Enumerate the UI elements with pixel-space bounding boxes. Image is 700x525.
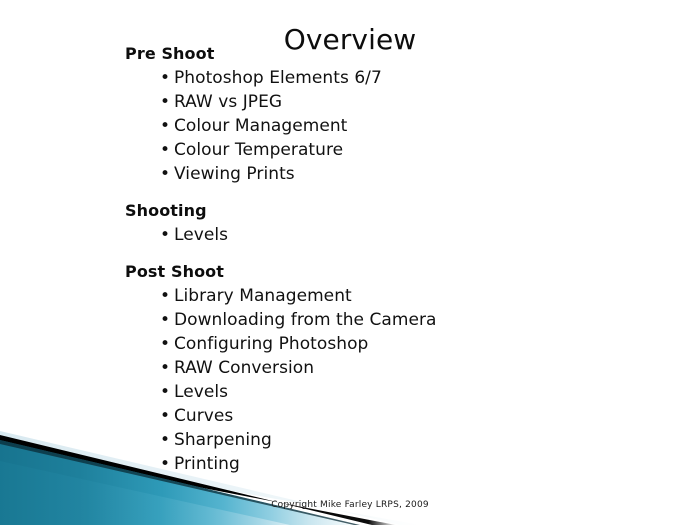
list-item: • Downloading from the Camera <box>160 308 645 332</box>
list-item: • Levels <box>160 380 645 404</box>
slide-body-content: Pre Shoot • Photoshop Elements 6/7 • RAW… <box>125 43 645 476</box>
bullet-icon: • <box>160 308 170 332</box>
list-item: • Configuring Photoshop <box>160 332 645 356</box>
list-item: • Viewing Prints <box>160 162 645 186</box>
bullet-list: • Photoshop Elements 6/7 • RAW vs JPEG •… <box>125 66 645 186</box>
section-heading: Shooting <box>125 200 645 221</box>
list-item-label: Levels <box>174 382 228 402</box>
list-item: • Photoshop Elements 6/7 <box>160 66 645 90</box>
list-item-label: Viewing Prints <box>174 164 295 184</box>
bullet-icon: • <box>160 452 170 476</box>
list-item-label: Photoshop Elements 6/7 <box>174 68 382 88</box>
bullet-icon: • <box>160 114 170 138</box>
list-item-label: Levels <box>174 225 228 245</box>
list-item-label: RAW Conversion <box>174 358 314 378</box>
list-item: • Levels <box>160 223 645 247</box>
bullet-list: • Levels <box>125 223 645 247</box>
bullet-icon: • <box>160 380 170 404</box>
list-item: • Printing <box>160 452 645 476</box>
section-post-shoot: Post Shoot • Library Management • Downlo… <box>125 261 645 476</box>
bullet-icon: • <box>160 428 170 452</box>
bullet-icon: • <box>160 138 170 162</box>
bullet-list: • Library Management • Downloading from … <box>125 284 645 476</box>
copyright-notice: Copyright Mike Farley LRPS, 2009 <box>0 499 700 511</box>
bullet-icon: • <box>160 356 170 380</box>
bullet-icon: • <box>160 404 170 428</box>
bullet-icon: • <box>160 332 170 356</box>
section-heading: Post Shoot <box>125 261 645 282</box>
list-item-label: Configuring Photoshop <box>174 334 368 354</box>
list-item: • Sharpening <box>160 428 645 452</box>
list-item: • Curves <box>160 404 645 428</box>
list-item-label: Curves <box>174 406 233 426</box>
bullet-icon: • <box>160 66 170 90</box>
list-item-label: Printing <box>174 454 240 474</box>
bullet-icon: • <box>160 223 170 247</box>
list-item-label: Downloading from the Camera <box>174 310 437 330</box>
section-shooting: Shooting • Levels <box>125 200 645 247</box>
list-item-label: Colour Management <box>174 116 347 136</box>
list-item: • Library Management <box>160 284 645 308</box>
list-item: • RAW Conversion <box>160 356 645 380</box>
list-item-label: Colour Temperature <box>174 140 343 160</box>
list-item-label: Library Management <box>174 286 352 306</box>
section-heading: Pre Shoot <box>125 43 645 64</box>
bullet-icon: • <box>160 162 170 186</box>
list-item: • Colour Temperature <box>160 138 645 162</box>
list-item: • Colour Management <box>160 114 645 138</box>
list-item: • RAW vs JPEG <box>160 90 645 114</box>
list-item-label: RAW vs JPEG <box>174 92 282 112</box>
list-item-label: Sharpening <box>174 430 272 450</box>
bullet-icon: • <box>160 284 170 308</box>
section-pre-shoot: Pre Shoot • Photoshop Elements 6/7 • RAW… <box>125 43 645 186</box>
presentation-slide: Overview Pre Shoot • Photoshop Elements … <box>0 0 700 525</box>
bullet-icon: • <box>160 90 170 114</box>
